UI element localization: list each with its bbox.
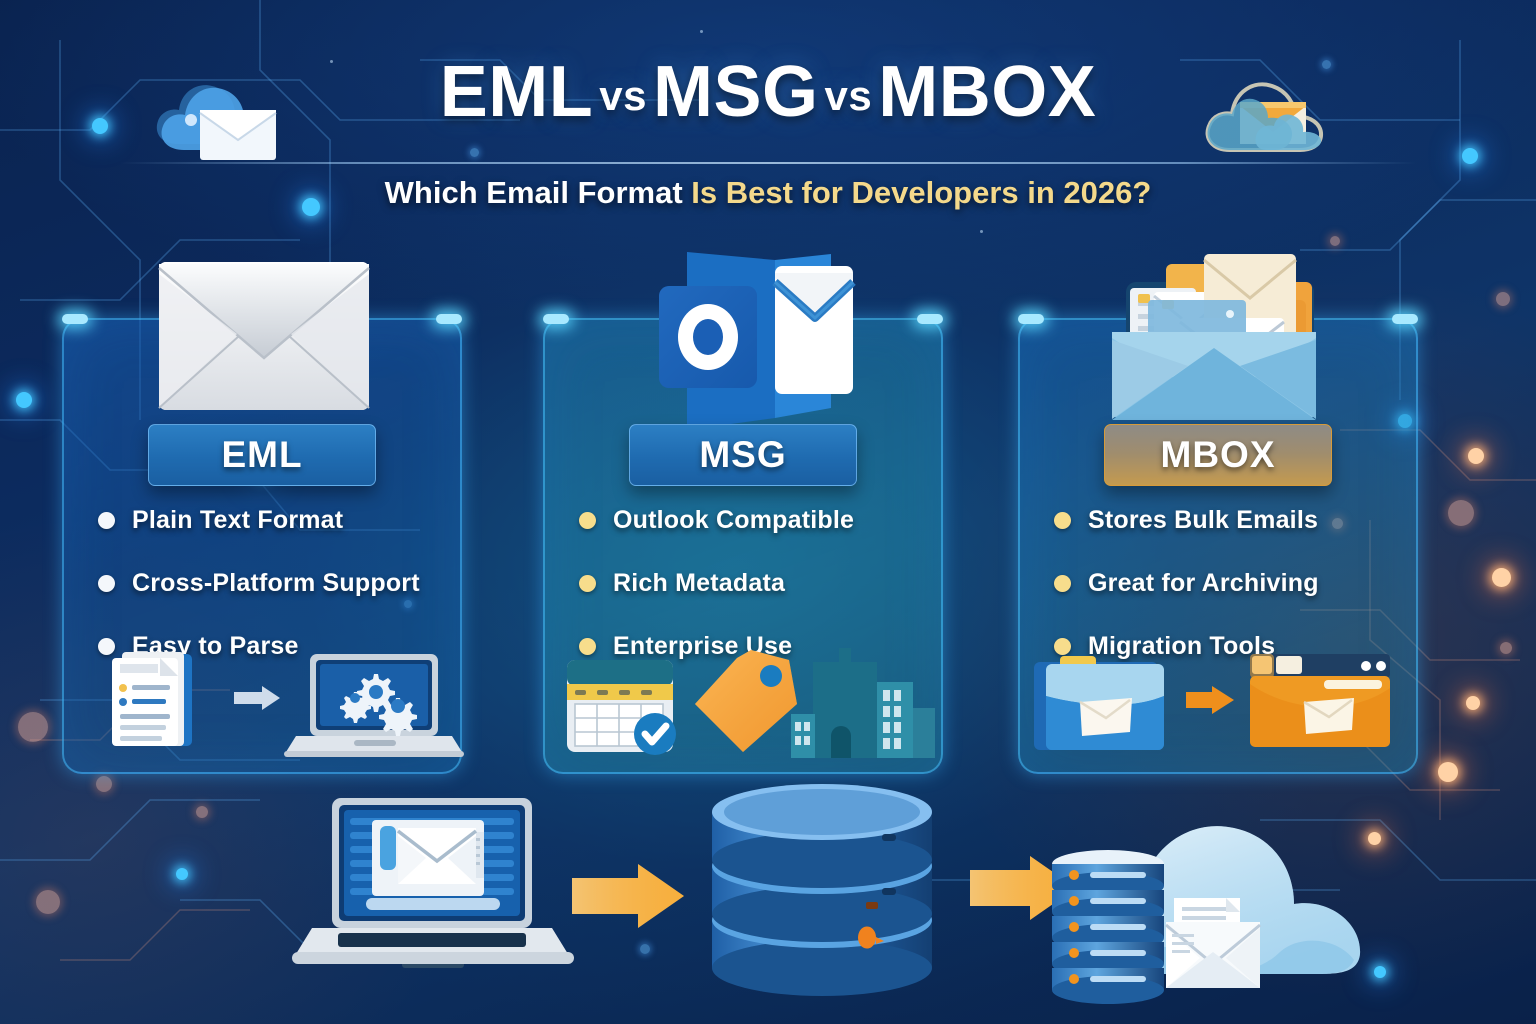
- title-part-msg: MSG: [653, 52, 819, 132]
- bullet-dot-icon: [98, 512, 115, 529]
- circuit-node: [36, 890, 60, 914]
- envelope-icon: [64, 248, 460, 438]
- circuit-node: [1368, 832, 1381, 845]
- document-file-icon: [112, 652, 192, 746]
- circuit-node: [1448, 500, 1474, 526]
- speck: [980, 230, 983, 233]
- server-rack-icon: [1052, 850, 1164, 1004]
- circuit-node: [176, 868, 188, 880]
- circuit-node: [1466, 696, 1480, 710]
- bullet-dot-icon: [1054, 575, 1071, 592]
- card-footer-msg: [545, 642, 941, 760]
- list-item: Rich Metadata: [579, 569, 923, 598]
- bullet-dot-icon: [1054, 512, 1071, 529]
- badge-mbox-label: MBOX: [1161, 434, 1276, 476]
- speck: [700, 30, 703, 33]
- bullet-dot-icon: [98, 575, 115, 592]
- list-item: Cross-Platform Support: [98, 569, 442, 598]
- blue-folder-mail-icon: [1034, 656, 1164, 750]
- laptop-gears-icon: [284, 654, 464, 757]
- orange-folder-mail-icon: [1250, 654, 1390, 747]
- bullet-label: Stores Bulk Emails: [1088, 506, 1318, 535]
- infographic-canvas: EMLvsMSGvsMBOX Which Email Format Is Bes…: [0, 0, 1536, 1024]
- mailbox-stack-icon: [1020, 248, 1416, 438]
- circuit-node: [196, 806, 208, 818]
- bullet-dot-icon: [579, 575, 596, 592]
- circuit-node: [1496, 292, 1510, 306]
- circuit-node: [1468, 448, 1484, 464]
- circuit-node: [1438, 762, 1458, 782]
- page-title: EMLvsMSGvsMBOX: [0, 56, 1536, 129]
- laptop-email-icon: [292, 798, 574, 968]
- list-item: Great for Archiving: [1054, 569, 1398, 598]
- subtitle-white-text: Which Email Format: [385, 175, 692, 210]
- circuit-node: [96, 776, 112, 792]
- circuit-node: [470, 148, 479, 157]
- arrow-right-icon: [1186, 686, 1234, 714]
- circuit-node: [1492, 568, 1511, 587]
- format-card-msg[interactable]: MSG Outlook Compatible Rich Metadata Ent…: [543, 318, 943, 774]
- calendar-check-icon: [567, 660, 676, 755]
- outlook-logo-icon: [545, 248, 941, 438]
- badge-eml: EML: [148, 424, 376, 486]
- circuit-node: [18, 712, 48, 742]
- database-stack-icon: [712, 784, 932, 996]
- bullet-dot-icon: [579, 512, 596, 529]
- badge-eml-label: EML: [221, 434, 302, 476]
- data-flow-diagram: [300, 784, 1260, 1024]
- badge-mbox: MBOX: [1104, 424, 1332, 486]
- badge-msg: MSG: [629, 424, 857, 486]
- circuit-node: [1330, 236, 1340, 246]
- list-item: Stores Bulk Emails: [1054, 506, 1398, 535]
- bullet-label: Cross-Platform Support: [132, 569, 420, 598]
- bullet-label: Great for Archiving: [1088, 569, 1319, 598]
- card-footer-mbox: [1020, 642, 1416, 760]
- page-subtitle: Which Email Format Is Best for Developer…: [0, 176, 1536, 210]
- subtitle-gold-text: Is Best for Developers in 2026?: [691, 175, 1151, 210]
- price-tag-icon: [695, 650, 797, 752]
- bullet-label: Outlook Compatible: [613, 506, 854, 535]
- bullet-label: Rich Metadata: [613, 569, 785, 598]
- format-card-mbox[interactable]: MBOX Stores Bulk Emails Great for Archiv…: [1018, 318, 1418, 774]
- badge-msg-label: MSG: [699, 434, 786, 476]
- arrow-right-icon: [572, 864, 684, 928]
- title-part-mbox: MBOX: [878, 52, 1096, 132]
- format-card-eml[interactable]: EML Plain Text Format Cross-Platform Sup…: [62, 318, 462, 774]
- circuit-node: [1500, 642, 1512, 654]
- list-item: Outlook Compatible: [579, 506, 923, 535]
- title-part-eml: EML: [440, 52, 593, 132]
- card-footer-eml: [64, 642, 460, 760]
- title-vs-2: vs: [819, 72, 879, 119]
- circuit-node: [1462, 148, 1478, 164]
- circuit-node: [1374, 966, 1386, 978]
- arrow-right-icon: [234, 686, 280, 710]
- office-building-icon: [791, 648, 935, 758]
- header-divider: [120, 162, 1416, 164]
- circuit-node: [16, 392, 32, 408]
- bullet-label: Plain Text Format: [132, 506, 343, 535]
- title-vs-1: vs: [593, 72, 653, 119]
- list-item: Plain Text Format: [98, 506, 442, 535]
